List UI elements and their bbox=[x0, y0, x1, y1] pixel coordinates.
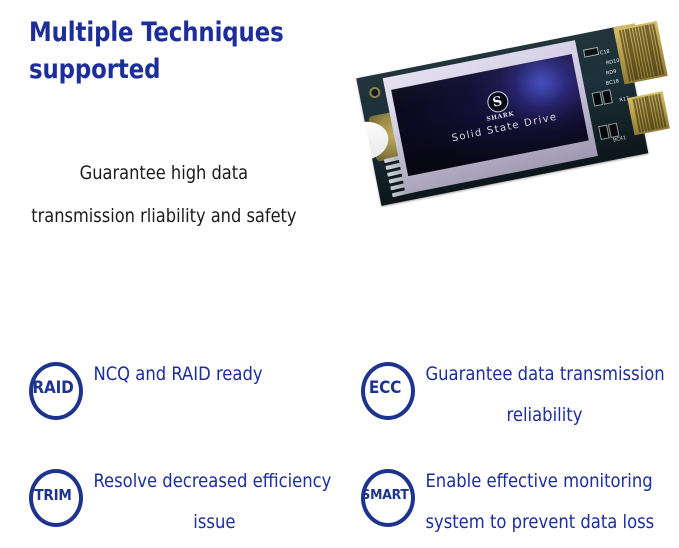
silkscreen-label: C18 bbox=[599, 49, 610, 57]
feature-line-1: Enable effective monitoring bbox=[425, 461, 667, 502]
feature-line-1: Guarantee data transmission bbox=[425, 354, 667, 395]
feature-description-trim: Resolve decreased efficiency issue bbox=[80, 461, 345, 543]
shark-logo-icon: S bbox=[485, 89, 510, 114]
feature-item-raid[interactable]: RAID NCQ and RAID ready bbox=[26, 354, 356, 416]
product-image-m2-ssd: S SHARK Solid State Drive C18 RD10 RD9 bbox=[352, 2, 679, 236]
feature-item-trim[interactable]: TRIM Resolve decreased efficiency issue bbox=[26, 461, 356, 543]
feature-line-2: issue bbox=[93, 502, 345, 543]
feature-description-ecc: Guarantee data transmission reliability bbox=[412, 354, 667, 436]
feature-item-smart[interactable]: SMART Enable effective monitoring system… bbox=[358, 461, 678, 543]
page-title-line-2: supported bbox=[29, 54, 160, 85]
feature-line-2: reliability bbox=[425, 395, 667, 436]
page-title: Multiple Techniques supported bbox=[29, 14, 311, 89]
raid-badge-icon: RAID bbox=[26, 360, 80, 416]
feature-grid: RAID NCQ and RAID ready ECC Guarantee da… bbox=[0, 348, 679, 548]
page-title-line-1: Multiple Techniques bbox=[29, 17, 284, 48]
subtitle-line-2: transmission rliability and safety bbox=[0, 195, 328, 238]
product-label-artwork: S SHARK Solid State Drive bbox=[391, 54, 589, 176]
silkscreen-label: RD10 bbox=[606, 58, 621, 67]
feature-line-2: system to prevent data loss bbox=[425, 502, 667, 543]
product-label: S SHARK Solid State Drive bbox=[383, 40, 598, 194]
badge-label: TRIM bbox=[20, 467, 86, 523]
product-feature-infographic: Multiple Techniques supported Guarantee … bbox=[0, 0, 679, 548]
smart-badge-icon: SMART bbox=[358, 467, 412, 523]
silkscreen-label: BC41 bbox=[613, 135, 627, 144]
silkscreen-label: RD9 bbox=[605, 69, 617, 77]
badge-label: ECC bbox=[352, 360, 418, 416]
feature-description-smart: Enable effective monitoring system to pr… bbox=[412, 461, 667, 543]
feature-item-ecc[interactable]: ECC Guarantee data transmission reliabil… bbox=[358, 354, 678, 436]
pcb-component bbox=[583, 47, 599, 58]
silkscreen-label: BC18 bbox=[605, 78, 619, 87]
feature-line-1: NCQ and RAID ready bbox=[93, 354, 345, 395]
badge-label: SMART bbox=[350, 467, 420, 523]
pcb-component bbox=[601, 89, 613, 104]
ecc-badge-icon: ECC bbox=[358, 360, 412, 416]
trim-badge-icon: TRIM bbox=[26, 467, 80, 523]
subtitle-text: Guarantee high data transmission rliabil… bbox=[0, 152, 328, 239]
ssd-board: S SHARK Solid State Drive C18 RD10 RD9 bbox=[356, 20, 676, 206]
via-hole bbox=[371, 88, 379, 96]
feature-line-1: Resolve decreased efficiency bbox=[93, 461, 345, 502]
feature-description-raid: NCQ and RAID ready bbox=[80, 354, 345, 395]
subtitle-line-1: Guarantee high data bbox=[0, 152, 328, 195]
badge-label: RAID bbox=[20, 360, 86, 416]
shark-logo-letter: S bbox=[491, 95, 503, 110]
